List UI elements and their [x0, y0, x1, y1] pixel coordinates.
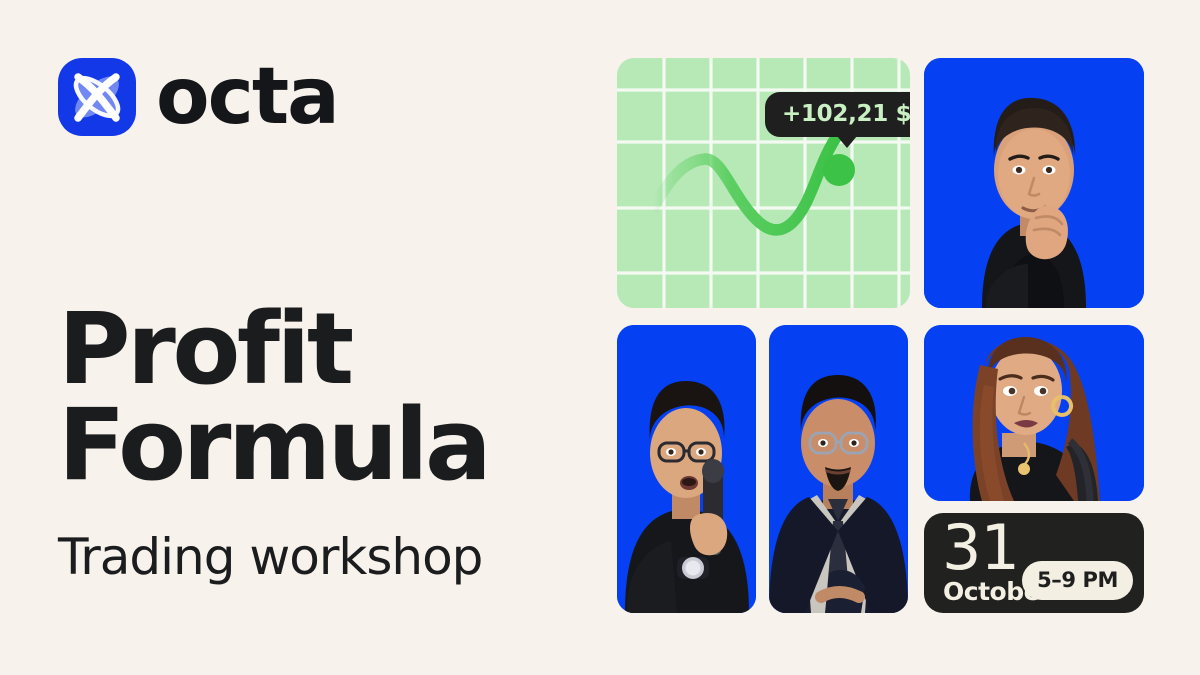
brand-lockup: octa [58, 58, 338, 136]
media-collage: +102,21 $ [617, 58, 1144, 613]
headline-block: Profit Formula Trading workshop [58, 302, 618, 586]
event-date-badge: 31 October 5–9 PM [924, 513, 1144, 613]
chart-value-tooltip: +102,21 $ [765, 92, 910, 137]
octa-x-logo-icon [58, 58, 136, 136]
chart-end-point [823, 154, 855, 186]
headline-line-2: Formula [58, 398, 618, 494]
page-title: Profit Formula [58, 302, 618, 494]
photo-man-with-microphone [617, 325, 756, 613]
photo-man-in-suit [769, 325, 908, 613]
profit-chart-card: +102,21 $ [617, 58, 910, 308]
poster-canvas: octa Profit Formula Trading workshop [0, 0, 1200, 675]
event-day: 31 [942, 517, 1019, 579]
photo-man-hand-on-chin [924, 58, 1144, 308]
brand-wordmark: octa [156, 67, 338, 128]
event-time-pill: 5–9 PM [1022, 561, 1133, 600]
photo-woman-with-bag [924, 325, 1144, 501]
subtitle: Trading workshop [58, 528, 618, 586]
